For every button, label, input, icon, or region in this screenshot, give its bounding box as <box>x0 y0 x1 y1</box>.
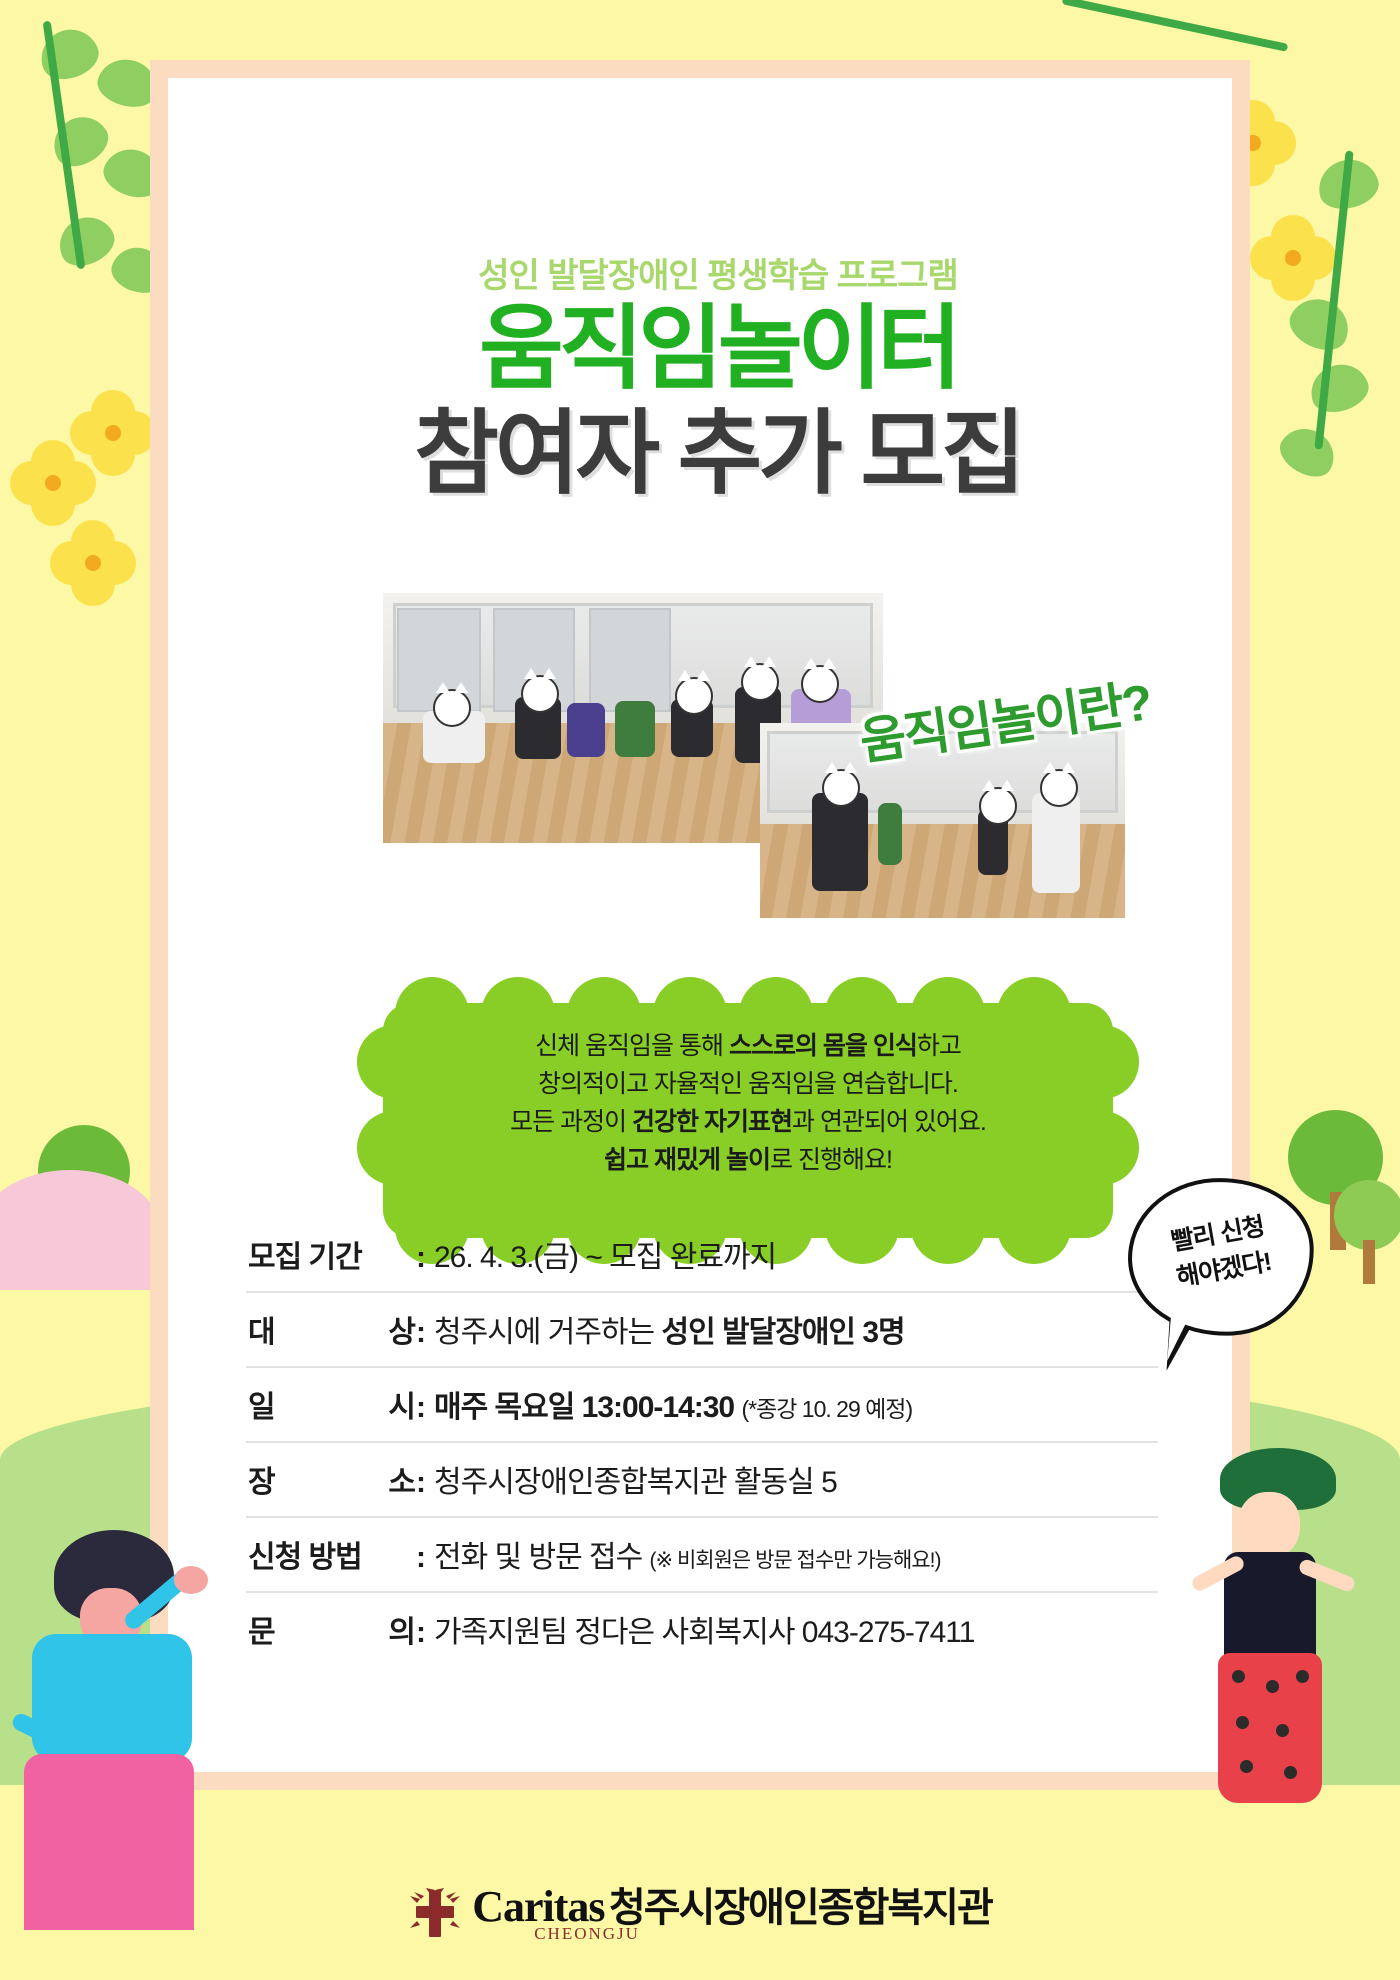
cat-face-mask-icon <box>1040 769 1078 807</box>
photo-person <box>615 701 655 757</box>
info-colon: : <box>416 1316 434 1350</box>
caritas-cross-icon <box>408 1887 462 1941</box>
poster-root: 성인 발달장애인 평생학습 프로그램 움직임놀이터 참여자 추가 모집 <box>0 0 1400 1980</box>
leaf-icon <box>1304 357 1373 419</box>
kicker-text: 성인 발달장애인 평생학습 프로그램 <box>168 248 1268 297</box>
flower-icon <box>10 440 96 526</box>
info-label: 장소 <box>248 1457 416 1501</box>
info-list: 모집 기간 : 26. 4. 3.(금) ~ 모집 완료까지 대상 : 청주시에… <box>246 1218 1158 1666</box>
info-colon: : <box>416 1541 434 1575</box>
character-dancer-right <box>1180 1448 1370 1848</box>
photo-person <box>878 803 902 865</box>
info-colon: : <box>416 1391 434 1425</box>
title-line-2: 참여자 추가 모집 <box>168 408 1268 500</box>
description-text: 신체 움직임을 통해 스스로의 몸을 인식하고 창의적이고 자율적인 움직임을 … <box>383 1003 1113 1179</box>
info-value: 청주시에 거주하는 성인 발달장애인 3명 <box>434 1307 1156 1351</box>
info-row-contact: 문의 : 가족지원팀 정다은 사회복지사 043-275-7411 <box>246 1593 1158 1666</box>
description-line-1: 신체 움직임을 통해 스스로의 몸을 인식하고 <box>383 1027 1113 1065</box>
info-row-target: 대상 : 청주시에 거주하는 성인 발달장애인 3명 <box>246 1293 1158 1368</box>
photo-person <box>567 703 605 757</box>
description-line-2: 창의적이고 자율적인 움직임을 연습합니다. <box>383 1065 1113 1103</box>
leaf-icon <box>51 208 121 273</box>
cat-face-mask-icon <box>801 665 839 703</box>
photo-person <box>1032 793 1080 893</box>
flower-icon <box>50 520 136 606</box>
title-line-1: 움직임놀이터 <box>168 303 1268 395</box>
tree-right-small <box>1330 1180 1400 1290</box>
info-value: 26. 4. 3.(금) ~ 모집 완료까지 <box>434 1232 1156 1276</box>
vine-stem <box>1062 0 1289 52</box>
description-blob: 신체 움직임을 통해 스스로의 몸을 인식하고 창의적이고 자율적인 움직임을 … <box>383 1003 1113 1238</box>
speech-bubble-text: 빨리 신청 해야겠다! <box>1127 1201 1315 1303</box>
cat-face-mask-icon <box>433 689 471 727</box>
info-value: 매주 목요일 13:00-14:30 (*종강 10. 29 예정) <box>434 1382 1156 1426</box>
info-row-place: 장소 : 청주시장애인종합복지관 활동실 5 <box>246 1443 1158 1518</box>
info-value: 가족지원팀 정다은 사회복지사 043-275-7411 <box>434 1607 1156 1651</box>
cat-face-mask-icon <box>979 787 1017 825</box>
info-row-apply-method: 신청 방법 : 전화 및 방문 접수 (※ 비회원은 방문 접수만 가능해요!) <box>246 1518 1158 1593</box>
footer: Caritas 청주시장애인종합복지관 CHEONGJU <box>0 1885 1400 1942</box>
cat-face-mask-icon <box>675 677 713 715</box>
leaf-icon <box>1273 419 1343 485</box>
description-line-4: 쉽고 재밌게 놀이로 진행해요! <box>383 1141 1113 1179</box>
info-colon: : <box>416 1616 434 1650</box>
info-row-datetime: 일시 : 매주 목요일 13:00-14:30 (*종강 10. 29 예정) <box>246 1368 1158 1443</box>
info-label: 신청 방법 <box>248 1532 416 1576</box>
info-colon: : <box>416 1466 434 1500</box>
cat-face-mask-icon <box>741 663 779 701</box>
description-line-3: 모든 과정이 건강한 자기표현과 연관되어 있어요. <box>383 1103 1113 1141</box>
cat-face-mask-icon <box>822 769 860 807</box>
info-label: 문의 <box>248 1607 416 1651</box>
info-value: 전화 및 방문 접수 (※ 비회원은 방문 접수만 가능해요!) <box>434 1532 1156 1576</box>
info-label: 대상 <box>248 1307 416 1351</box>
info-colon: : <box>416 1241 434 1275</box>
cat-face-mask-icon <box>521 675 559 713</box>
info-row-recruit-period: 모집 기간 : 26. 4. 3.(금) ~ 모집 완료까지 <box>246 1218 1158 1293</box>
info-label: 일시 <box>248 1382 416 1426</box>
footer-organization: 청주시장애인종합복지관 <box>609 1886 992 1930</box>
info-value: 청주시장애인종합복지관 활동실 5 <box>434 1457 1156 1501</box>
photo-person <box>812 793 868 891</box>
info-label: 모집 기간 <box>248 1232 416 1276</box>
character-dancer-left <box>10 1530 220 1930</box>
